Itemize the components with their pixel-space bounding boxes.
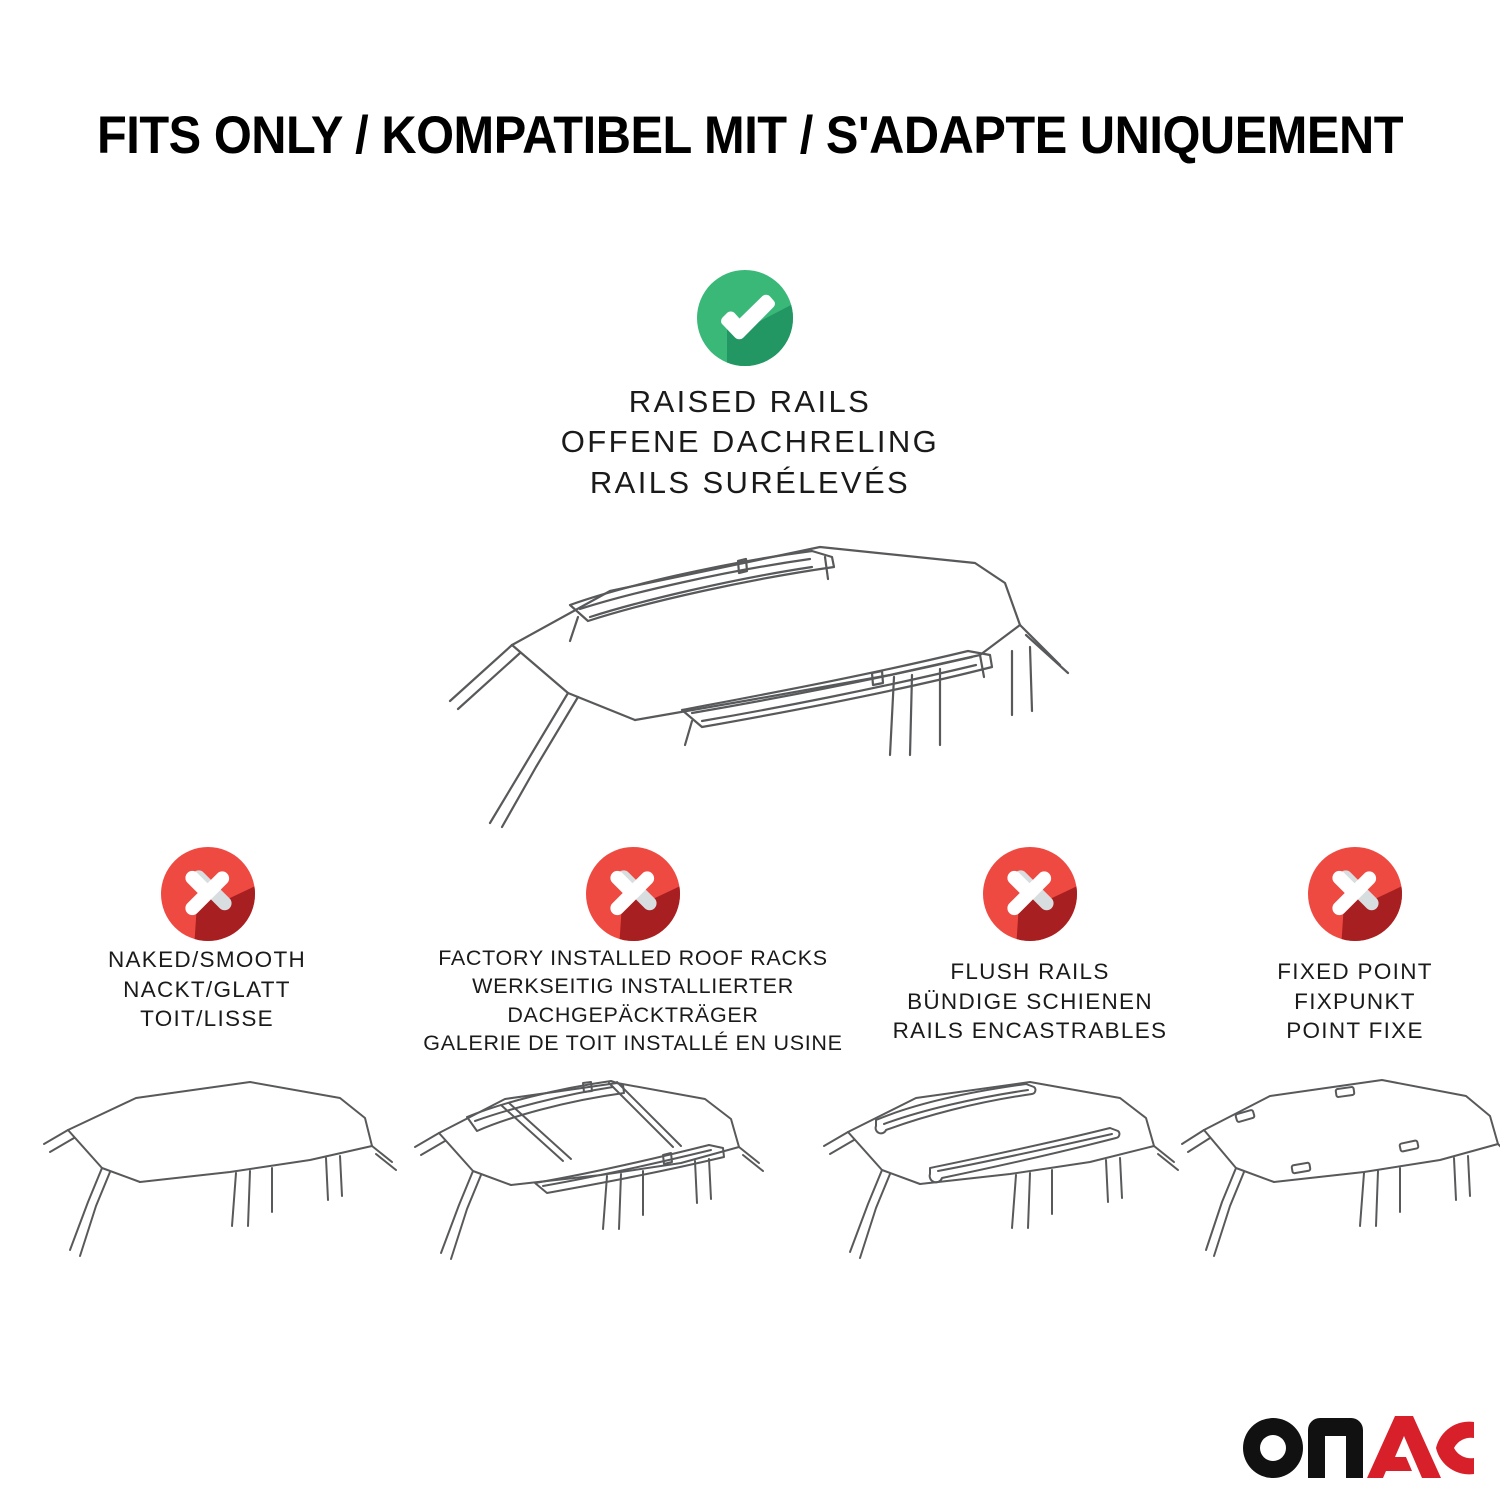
compatible-line-3: RAILS SURÉLEVÉS (0, 463, 1500, 503)
incompatible-caption-2: FACTORY INSTALLED ROOF RACKS WERKSEITIG … (383, 944, 883, 1058)
incompatible-2-line-1: FACTORY INSTALLED ROOF RACKS (383, 944, 883, 972)
cross-circle-icon (1308, 847, 1402, 941)
incompatible-2-line-3: DACHGEPÄCKTRÄGER (383, 1001, 883, 1029)
incompatible-1-line-2: NACKT/GLATT (27, 975, 387, 1005)
car-roof-flush-rails-illustration (818, 1058, 1208, 1290)
car-roof-fixed-point-illustration (1178, 1058, 1500, 1290)
compatible-caption: RAISED RAILS OFFENE DACHRELING RAILS SUR… (0, 382, 1500, 503)
car-roof-factory-roof-racks-illustration (405, 1055, 790, 1290)
incompatible-4-line-3: POINT FIXE (1195, 1016, 1500, 1046)
incompatible-1-line-3: TOIT/LISSE (27, 1004, 387, 1034)
incompatible-4-line-2: FIXPUNKT (1195, 987, 1500, 1017)
incompatible-3-line-1: FLUSH RAILS (855, 957, 1205, 987)
incompatible-caption-1: NAKED/SMOOTH NACKT/GLATT TOIT/LISSE (27, 945, 387, 1034)
incompatible-caption-4: FIXED POINT FIXPUNKT POINT FIXE (1195, 957, 1500, 1046)
check-circle-icon (697, 270, 793, 366)
incompatible-2-line-2: WERKSEITIG INSTALLIERTER (383, 972, 883, 1000)
car-roof-naked-smooth-illustration (40, 1060, 420, 1290)
cross-circle-icon (983, 847, 1077, 941)
incompatible-4-line-1: FIXED POINT (1195, 957, 1500, 987)
incompatible-2-line-4: GALERIE DE TOIT INSTALLÉ EN USINE (383, 1029, 883, 1057)
compatible-line-2: OFFENE DACHRELING (0, 422, 1500, 462)
cross-circle-icon (586, 847, 680, 941)
page-title: FITS ONLY / KOMPATIBEL MIT / S'ADAPTE UN… (60, 105, 1440, 166)
cross-circle-icon (161, 847, 255, 941)
incompatible-1-line-1: NAKED/SMOOTH (27, 945, 387, 975)
compatible-line-1: RAISED RAILS (0, 382, 1500, 422)
fitment-guide-page: FITS ONLY / KOMPATIBEL MIT / S'ADAPTE UN… (0, 0, 1500, 1500)
car-roof-raised-rails-illustration (420, 505, 1100, 835)
incompatible-caption-3: FLUSH RAILS BÜNDIGE SCHIENEN RAILS ENCAS… (855, 957, 1205, 1046)
omac-logo (1238, 1408, 1474, 1480)
incompatible-3-line-2: BÜNDIGE SCHIENEN (855, 987, 1205, 1017)
incompatible-3-line-3: RAILS ENCASTRABLES (855, 1016, 1205, 1046)
